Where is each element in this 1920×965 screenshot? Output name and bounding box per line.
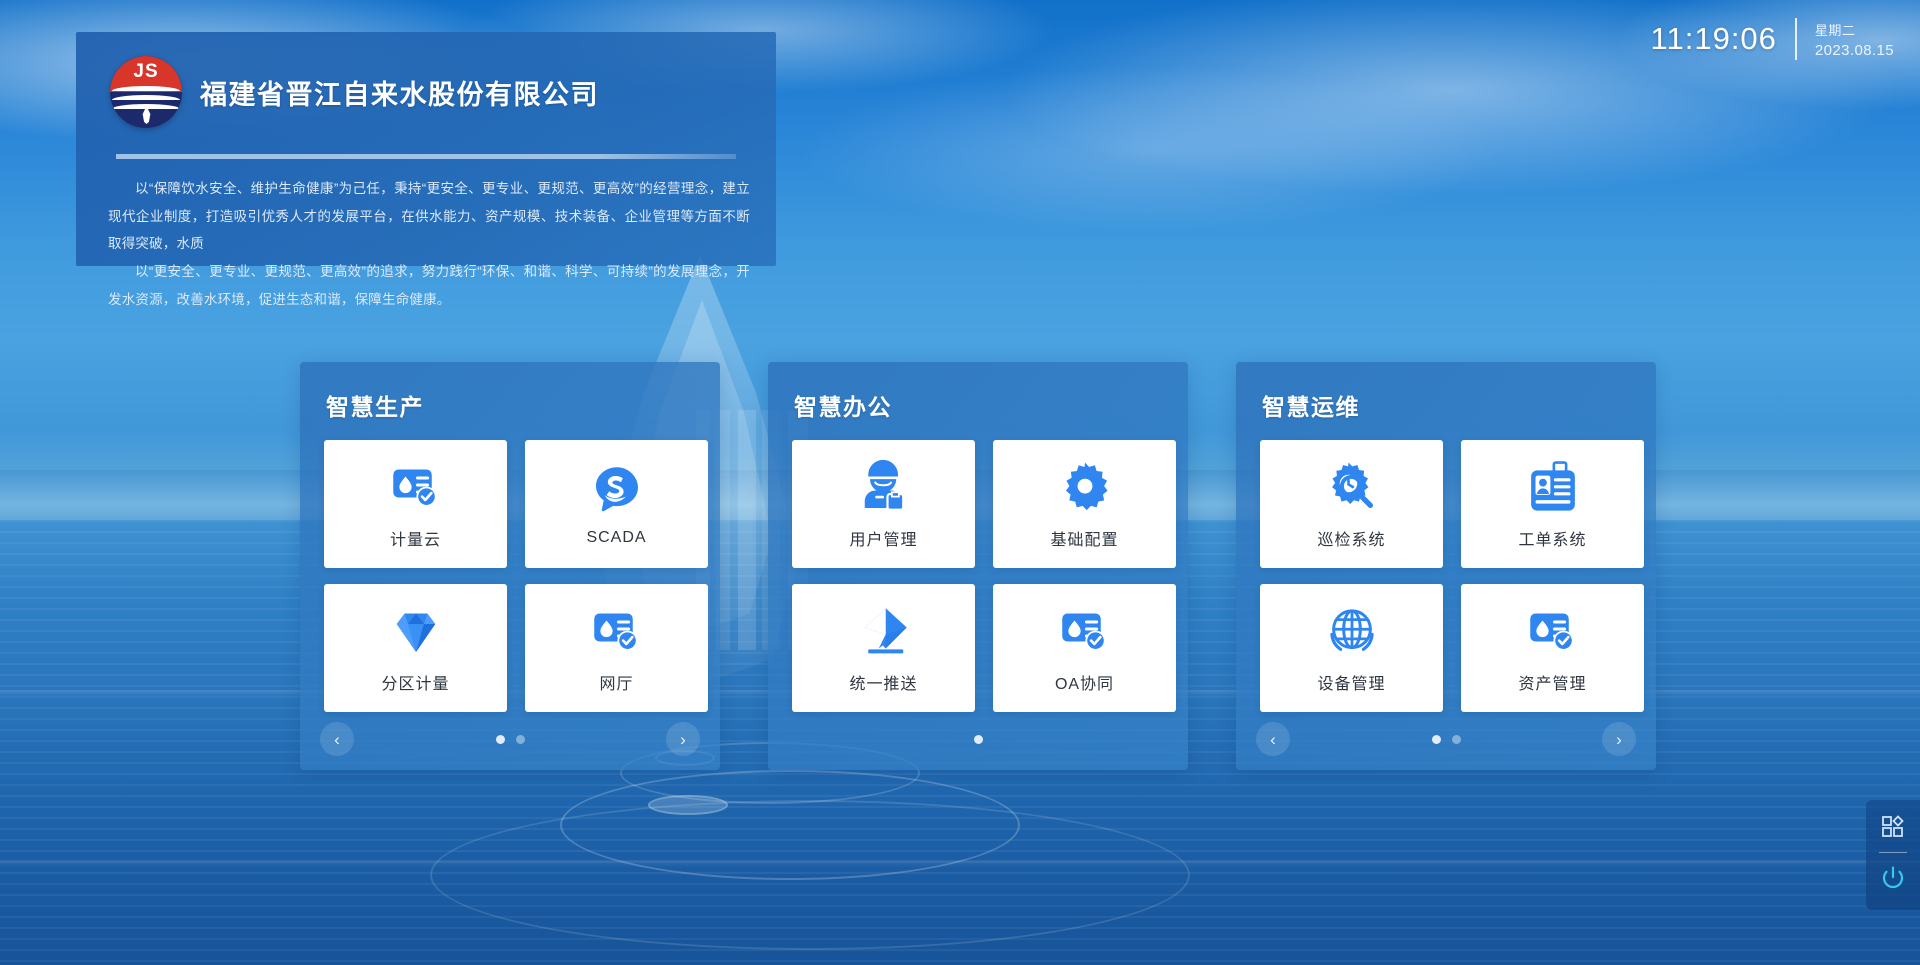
panel-title: 智慧运维 xyxy=(1236,362,1656,422)
power-icon[interactable] xyxy=(1878,863,1908,893)
tile-label: 工单系统 xyxy=(1518,526,1586,550)
clock-date-group: 星期二 2023.08.15 xyxy=(1815,20,1894,59)
tile-label: 网厅 xyxy=(599,670,633,694)
carousel-dot[interactable] xyxy=(516,735,525,744)
tile-label: 巡检系统 xyxy=(1317,526,1385,550)
panel-smart-office: 智慧办公 用户管理 基础配置 xyxy=(768,362,1188,770)
company-paragraph-1: 以“保障饮水安全、维护生命健康”为己任，秉持“更安全、更专业、更规范、更高效”的… xyxy=(108,175,750,258)
id-badge-icon xyxy=(1524,458,1582,516)
diamond-icon xyxy=(387,602,445,660)
tile-unified-push[interactable]: 统一推送 xyxy=(792,584,975,712)
carousel-dot[interactable] xyxy=(1432,735,1441,744)
carousel-dot[interactable] xyxy=(974,735,983,744)
envelope-send-icon xyxy=(855,602,913,660)
ripple-ring xyxy=(648,795,728,815)
company-info-card: JS 福建省晋江自来水股份有限公司 以“保障饮水安全、维护生命健康”为己任，秉持… xyxy=(76,32,776,266)
company-logo-icon: JS xyxy=(110,56,182,128)
tile-label: 计量云 xyxy=(390,526,441,550)
ripple-ring xyxy=(430,800,1190,950)
carousel-dots xyxy=(1432,735,1461,744)
carousel-prev-button[interactable]: ‹ xyxy=(320,722,354,756)
clock-weekday: 星期二 xyxy=(1815,20,1894,39)
company-name: 福建省晋江自来水股份有限公司 xyxy=(200,73,599,112)
tile-inspection-system[interactable]: 巡检系统 xyxy=(1260,440,1443,568)
tile-basic-config[interactable]: 基础配置 xyxy=(993,440,1176,568)
company-description: 以“保障饮水安全、维护生命健康”为己任，秉持“更安全、更专业、更规范、更高效”的… xyxy=(108,175,750,313)
tile-label: 设备管理 xyxy=(1317,670,1385,694)
panel-smart-operations: 智慧运维 巡检系统 工单系统 xyxy=(1236,362,1656,770)
company-header: JS 福建省晋江自来水股份有限公司 xyxy=(76,32,776,128)
clock-date: 2023.08.15 xyxy=(1815,42,1894,59)
carousel-dot[interactable] xyxy=(1452,735,1461,744)
tile-grid: 计量云 SCADA 分区计量 xyxy=(300,422,720,712)
panel-title: 智慧生产 xyxy=(300,362,720,422)
panel-smart-production: 智慧生产 计量云 SCADA xyxy=(300,362,720,770)
tile-fenqujiliang[interactable]: 分区计量 xyxy=(324,584,507,712)
carousel-next-button[interactable]: › xyxy=(666,722,700,756)
clock-divider xyxy=(1795,18,1797,60)
worker-user-icon xyxy=(855,458,913,516)
tile-label: 用户管理 xyxy=(849,526,917,550)
panel-footer: ‹ › xyxy=(300,722,720,756)
tile-grid: 用户管理 基础配置 统一推送 xyxy=(768,422,1188,712)
logo-wave-icon xyxy=(112,95,180,100)
side-dock xyxy=(1866,800,1920,910)
tile-label: 分区计量 xyxy=(381,670,449,694)
tile-jiliangyun[interactable]: 计量云 xyxy=(324,440,507,568)
panel-title: 智慧办公 xyxy=(768,362,1188,422)
tile-label: 资产管理 xyxy=(1518,670,1586,694)
tile-device-management[interactable]: 设备管理 xyxy=(1260,584,1443,712)
module-panels: 智慧生产 计量云 SCADA xyxy=(300,362,1656,770)
tile-work-order-system[interactable]: 工单系统 xyxy=(1461,440,1644,568)
carousel-prev-button[interactable]: ‹ xyxy=(1256,722,1290,756)
company-paragraph-2: 以“更安全、更专业、更规范、更高效”的追求，努力践行“环保、和谐、科学、可持续”… xyxy=(108,258,750,313)
clock-time: 11:19:06 xyxy=(1651,21,1777,57)
carousel-dots xyxy=(496,735,525,744)
tile-asset-management[interactable]: 资产管理 xyxy=(1461,584,1644,712)
panel-footer: ‹ › xyxy=(1236,722,1656,756)
tile-label: OA协同 xyxy=(1055,670,1114,694)
gear-icon xyxy=(1056,458,1114,516)
tile-scada[interactable]: SCADA xyxy=(525,440,708,568)
scada-s-bubble-icon xyxy=(588,461,646,519)
water-card-check-icon xyxy=(1056,602,1114,660)
water-card-check-icon xyxy=(588,602,646,660)
tile-oa-collab[interactable]: OA协同 xyxy=(993,584,1176,712)
wave-band xyxy=(0,860,1920,868)
water-card-check-icon xyxy=(387,458,445,516)
carousel-dots xyxy=(974,735,983,744)
tile-label: 基础配置 xyxy=(1050,526,1118,550)
tile-user-management[interactable]: 用户管理 xyxy=(792,440,975,568)
water-card-check-icon xyxy=(1524,602,1582,660)
clock-widget: 11:19:06 星期二 2023.08.15 xyxy=(1651,18,1894,60)
carousel-dot[interactable] xyxy=(496,735,505,744)
tile-label: 统一推送 xyxy=(849,670,917,694)
panel-footer xyxy=(768,722,1188,756)
tile-grid: 巡检系统 工单系统 设备管理 xyxy=(1236,422,1656,712)
gear-wrench-inspect-icon xyxy=(1323,458,1381,516)
dashboard-root: 11:19:06 星期二 2023.08.15 JS 福建省晋江自来水股份有限公… xyxy=(0,0,1920,965)
tile-wangting[interactable]: 网厅 xyxy=(525,584,708,712)
tile-label: SCADA xyxy=(586,529,646,547)
globe-icon xyxy=(1323,602,1381,660)
logo-initials: JS xyxy=(110,61,182,83)
carousel-next-button[interactable]: › xyxy=(1602,722,1636,756)
apps-grid-icon[interactable] xyxy=(1878,812,1908,842)
dock-divider xyxy=(1879,852,1907,853)
title-underline xyxy=(116,154,736,159)
logo-wave-icon xyxy=(112,86,180,91)
